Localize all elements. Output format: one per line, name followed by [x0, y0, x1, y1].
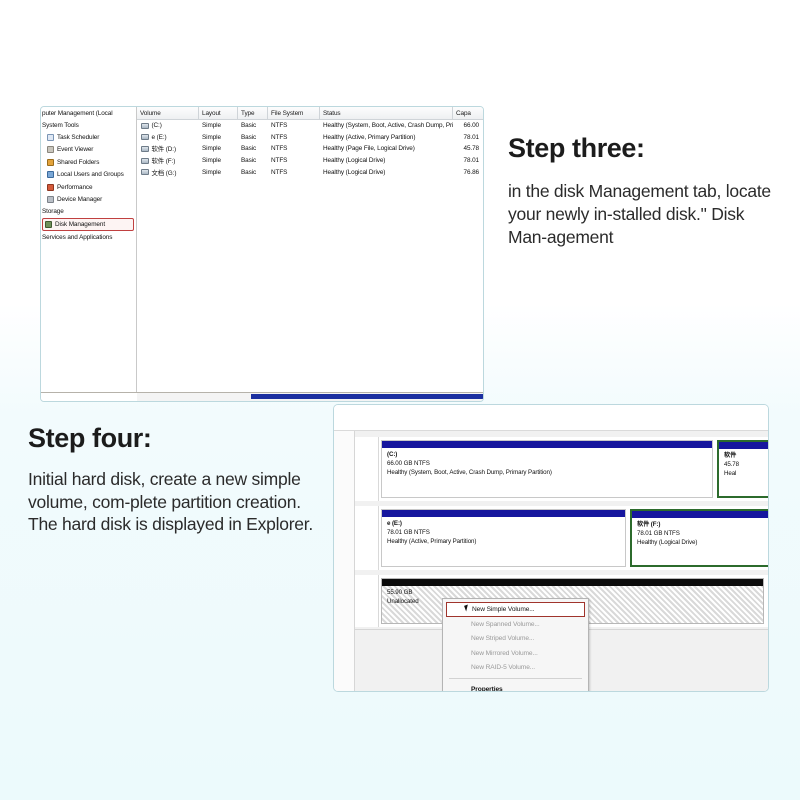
partition-status: Healthy (System, Boot, Active, Crash Dum… — [387, 469, 712, 478]
table-row[interactable]: (C:) Simple Basic NTFS Healthy (System, … — [137, 120, 483, 132]
partition-size: 66.00 GB NTFS — [387, 460, 712, 469]
tree-node-label: System Tools — [42, 122, 79, 129]
cell-filesystem: NTFS — [268, 134, 320, 141]
cell-volume: 软件 (D:) — [152, 144, 177, 153]
column-header-type[interactable]: Type — [238, 107, 268, 119]
step-three-body: in the disk Management tab, locate your … — [508, 180, 776, 248]
table-row[interactable]: e (E:) Simple Basic NTFS Healthy (Active… — [137, 132, 483, 144]
cell-type: Basic — [238, 134, 268, 141]
step-three-block: Step three: in the disk Management tab, … — [508, 134, 776, 249]
step-three-title: Step three: — [508, 134, 776, 162]
partition-text: 软件 45.78 Heal — [719, 449, 769, 479]
cell-volume: 文档 (G:) — [152, 168, 177, 177]
menu-item-new-spanned-volume: New Spanned Volume... — [443, 617, 588, 632]
column-header-capacity[interactable]: Capa — [453, 107, 483, 119]
column-header-layout[interactable]: Layout — [199, 107, 238, 119]
partition-label: e (E:) — [387, 520, 625, 529]
tree-node-label: Shared Folders — [57, 159, 99, 166]
partition-status: Healthy (Active, Primary Partition) — [387, 538, 625, 547]
mouse-cursor-icon — [464, 604, 470, 611]
partition-text: e (E:) 78.01 GB NTFS Healthy (Active, Pr… — [382, 517, 625, 547]
local-users-icon — [47, 171, 54, 178]
cell-status: Healthy (Logical Drive) — [320, 169, 453, 176]
cell-layout: Simple — [199, 145, 238, 152]
step-four-block: Step four: Initial hard disk, create a n… — [28, 424, 328, 535]
step-four-title: Step four: — [28, 424, 328, 452]
partition-software-f[interactable]: 软件 (F:) 78.01 GB NTFS Healthy (Logical D… — [630, 509, 769, 567]
partition-label: (C:) — [387, 451, 712, 460]
disk-caption-column — [355, 437, 379, 501]
disk-management-graphical-window: (C:) 66.00 GB NTFS Healthy (System, Boot… — [333, 404, 769, 692]
tree-root-label[interactable]: puter Management (Local — [41, 108, 136, 119]
cell-filesystem: NTFS — [268, 169, 320, 176]
sidebar-item-disk-management[interactable]: Disk Management — [42, 218, 134, 231]
page-root: puter Management (Local System Tools Tas… — [0, 0, 800, 800]
table-row[interactable]: 软件 (D:) Simple Basic NTFS Healthy (Page … — [137, 143, 483, 155]
cell-filesystem: NTFS — [268, 145, 320, 152]
sidebar-item-device-manager[interactable]: Device Manager — [41, 193, 136, 205]
disk-caption-column — [355, 575, 379, 627]
cell-capacity: 78.01 — [453, 157, 483, 164]
sidebar-item-system-tools[interactable]: System Tools — [41, 119, 136, 131]
menu-item-new-simple-volume[interactable]: New Simple Volume... — [446, 602, 585, 617]
cell-layout: Simple — [199, 122, 238, 129]
partition-label: 软件 — [724, 452, 769, 461]
partition-e[interactable]: e (E:) 78.01 GB NTFS Healthy (Active, Pr… — [381, 509, 626, 567]
partition-text: 软件 (F:) 78.01 GB NTFS Healthy (Logical D… — [632, 518, 769, 548]
sidebar-item-shared-folders[interactable]: Shared Folders — [41, 156, 136, 168]
menu-item-label: New Spanned Volume... — [471, 621, 540, 628]
cell-filesystem: NTFS — [268, 122, 320, 129]
horizontal-scrollbar[interactable] — [41, 392, 483, 401]
performance-icon — [47, 184, 54, 191]
volume-icon — [141, 146, 149, 152]
sidebar-item-storage[interactable]: Storage — [41, 206, 136, 218]
cell-volume: e (E:) — [152, 134, 167, 141]
menu-item-label: New Simple Volume... — [472, 606, 535, 613]
tree-node-label: Device Manager — [57, 196, 102, 203]
disk-band-row: (C:) 66.00 GB NTFS Healthy (System, Boot… — [355, 437, 768, 501]
unallocated-context-menu[interactable]: New Simple Volume... New Spanned Volume.… — [442, 598, 589, 692]
cell-layout: Simple — [199, 157, 238, 164]
menu-item-label: Properties — [471, 686, 503, 692]
cell-volume: (C:) — [152, 122, 162, 129]
cell-layout: Simple — [199, 134, 238, 141]
cell-type: Basic — [238, 122, 268, 129]
step-four-body: Initial hard disk, create a new simple v… — [28, 468, 328, 535]
disk-band-row: e (E:) 78.01 GB NTFS Healthy (Active, Pr… — [355, 506, 768, 570]
sidebar-item-services-and-applications[interactable]: Services and Applications — [41, 231, 136, 243]
sidebar-item-performance[interactable]: Performance — [41, 181, 136, 193]
volume-list-rows: (C:) Simple Basic NTFS Healthy (System, … — [137, 120, 483, 392]
tree-node-label: Storage — [42, 208, 64, 215]
partition-color-bar — [382, 579, 763, 586]
tree-node-label: Local Users and Groups — [57, 171, 124, 178]
task-scheduler-icon — [47, 134, 54, 141]
partition-color-bar — [719, 442, 769, 449]
menu-item-label: New Striped Volume... — [471, 635, 534, 642]
cell-capacity: 78.01 — [453, 134, 483, 141]
menu-item-properties[interactable]: Properties — [443, 682, 588, 692]
column-header-volume[interactable]: Volume — [137, 107, 199, 119]
computer-management-window: puter Management (Local System Tools Tas… — [40, 106, 484, 402]
sidebar-item-event-viewer[interactable]: Event Viewer — [41, 144, 136, 156]
sidebar-item-task-scheduler[interactable]: Task Scheduler — [41, 131, 136, 143]
disk-caption-column — [355, 506, 379, 570]
table-row[interactable]: 软件 (F:) Simple Basic NTFS Healthy (Logic… — [137, 155, 483, 167]
volume-icon — [141, 169, 149, 175]
menu-item-new-raid5-volume: New RAID-5 Volume... — [443, 661, 588, 676]
cell-status: Healthy (Page File, Logical Drive) — [320, 145, 453, 152]
partition-size: 55.90 GB — [387, 589, 763, 598]
tree-node-label: Event Viewer — [57, 146, 93, 153]
cell-capacity: 45.78 — [453, 145, 483, 152]
scrollbar-track[interactable] — [137, 393, 483, 401]
computer-management-body: puter Management (Local System Tools Tas… — [41, 107, 483, 392]
menu-item-new-striped-volume: New Striped Volume... — [443, 632, 588, 647]
graphical-view-area: (C:) 66.00 GB NTFS Healthy (System, Boot… — [334, 431, 768, 692]
column-header-file-system[interactable]: File System — [268, 107, 320, 119]
sidebar-item-local-users-and-groups[interactable]: Local Users and Groups — [41, 169, 136, 181]
partition-color-bar — [632, 511, 769, 518]
device-manager-icon — [47, 196, 54, 203]
volume-icon — [141, 123, 149, 129]
partition-text: (C:) 66.00 GB NTFS Healthy (System, Boot… — [382, 448, 712, 478]
volume-list-header[interactable]: Volume Layout Type File System Status Ca… — [137, 107, 483, 120]
cell-type: Basic — [238, 157, 268, 164]
menu-item-label: New Mirrored Volume... — [471, 650, 538, 657]
cell-type: Basic — [238, 145, 268, 152]
volume-icon — [141, 134, 149, 140]
volume-list-pane: Volume Layout Type File System Status Ca… — [137, 107, 483, 392]
shared-folders-icon — [47, 159, 54, 166]
console-tree-pane[interactable]: puter Management (Local System Tools Tas… — [41, 107, 137, 392]
disk-management-icon — [45, 221, 52, 228]
column-header-status[interactable]: Status — [320, 107, 453, 119]
cell-status: Healthy (Logical Drive) — [320, 157, 453, 164]
cell-filesystem: NTFS — [268, 157, 320, 164]
cell-capacity: 66.00 — [453, 122, 483, 129]
partition-size: 78.01 GB NTFS — [637, 530, 769, 539]
scrollbar-thumb[interactable] — [251, 394, 483, 399]
partition-size: 45.78 — [724, 461, 769, 470]
partition-color-bar — [382, 441, 712, 448]
cell-capacity: 76.86 — [453, 169, 483, 176]
partition-size: 78.01 GB NTFS — [387, 529, 625, 538]
volume-icon — [141, 158, 149, 164]
table-row[interactable]: 文档 (G:) Simple Basic NTFS Healthy (Logic… — [137, 166, 483, 178]
tree-node-label: Task Scheduler — [57, 134, 99, 141]
partition-color-bar — [382, 510, 625, 517]
cell-layout: Simple — [199, 169, 238, 176]
cell-type: Basic — [238, 169, 268, 176]
partition-software-d[interactable]: 软件 45.78 Heal — [717, 440, 769, 498]
menu-item-label: New RAID-5 Volume... — [471, 664, 535, 671]
event-viewer-icon — [47, 146, 54, 153]
tree-node-label: Performance — [57, 184, 92, 191]
partition-status: Heal — [724, 470, 769, 479]
cell-status: Healthy (Active, Primary Partition) — [320, 134, 453, 141]
window-top-strip — [334, 405, 768, 431]
partition-status: Healthy (Logical Drive) — [637, 539, 769, 548]
cell-volume: 软件 (F:) — [152, 156, 176, 165]
partition-c[interactable]: (C:) 66.00 GB NTFS Healthy (System, Boot… — [381, 440, 713, 498]
tree-node-label: Services and Applications — [42, 234, 112, 241]
cell-status: Healthy (System, Boot, Active, Crash Dum… — [320, 122, 453, 129]
tree-node-label: Disk Management — [55, 221, 105, 228]
menu-item-new-mirrored-volume: New Mirrored Volume... — [443, 646, 588, 661]
partition-label: 软件 (F:) — [637, 521, 769, 530]
disk-label-gutter — [334, 431, 355, 692]
menu-separator — [449, 678, 582, 679]
